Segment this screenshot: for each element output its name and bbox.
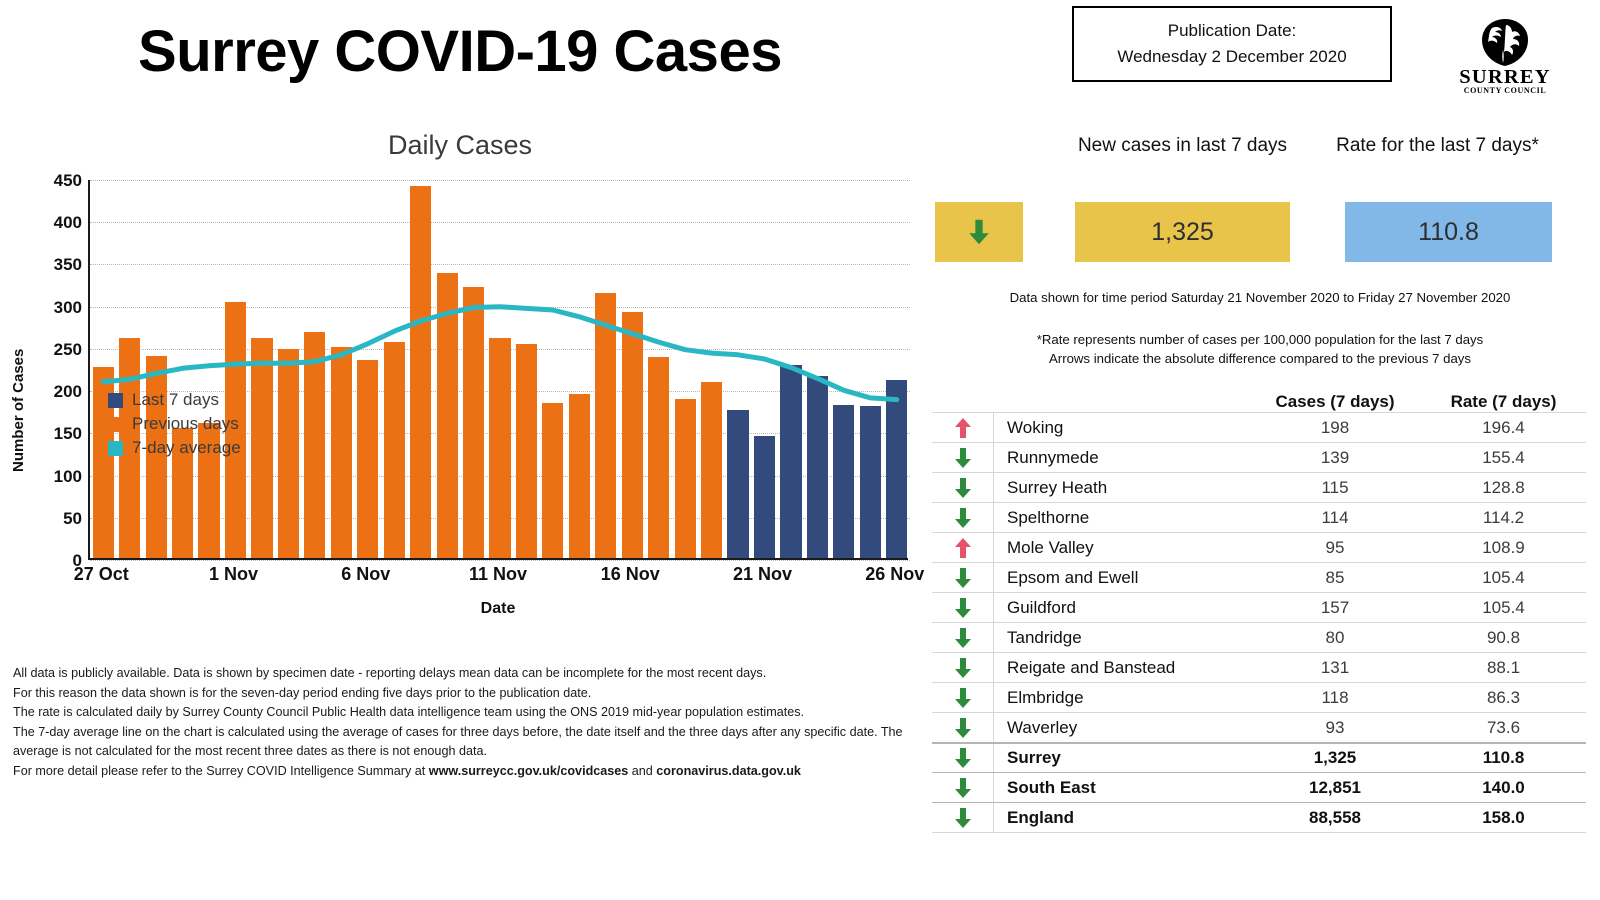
table-cell-area-name: England xyxy=(994,808,1249,828)
x-axis-tick-label: 16 Nov xyxy=(601,564,660,585)
down-arrow-icon xyxy=(954,627,972,649)
table-row: Epsom and Ewell85105.4 xyxy=(932,562,1586,592)
y-axis-tick-label: 250 xyxy=(54,340,82,360)
page-title: Surrey COVID-19 Cases xyxy=(0,18,920,85)
table-cell-cases: 85 xyxy=(1249,568,1421,588)
borough-rates-table: Cases (7 days) Rate (7 days) Woking19819… xyxy=(932,380,1586,833)
table-cell-area-name: Runnymede xyxy=(994,448,1249,468)
chart-plot-area: 050100150200250300350400450 xyxy=(88,180,908,560)
y-axis-tick-label: 350 xyxy=(54,255,82,275)
table-body: Woking198196.4Runnymede139155.4Surrey He… xyxy=(932,412,1586,832)
table-cell-cases: 139 xyxy=(1249,448,1421,468)
table-cell-cases: 1,325 xyxy=(1249,748,1421,768)
chart-legend: Last 7 daysPrevious days7-day average xyxy=(108,388,241,460)
seven-day-average-line xyxy=(90,180,910,560)
legend-item: Last 7 days xyxy=(108,388,241,412)
legend-label: 7-day average xyxy=(132,438,241,458)
down-arrow-icon xyxy=(954,807,972,829)
table-cell-rate: 88.1 xyxy=(1421,658,1586,678)
gridline: 0 xyxy=(90,560,910,561)
down-arrow-icon xyxy=(954,777,972,799)
table-cell-trend xyxy=(932,773,994,802)
rate-note-line-1: *Rate represents number of cases per 100… xyxy=(920,330,1600,349)
table-row: Surrey1,325110.8 xyxy=(932,742,1586,772)
table-cell-rate: 128.8 xyxy=(1421,478,1586,498)
kpi-rate-value: 110.8 xyxy=(1345,202,1552,262)
table-cell-area-name: Reigate and Banstead xyxy=(994,658,1249,678)
table-row: Guildford157105.4 xyxy=(932,592,1586,622)
left-panel: Surrey COVID-19 Cases Daily Cases Number… xyxy=(0,0,920,900)
footnote-line-5-pre: For more detail please refer to the Surr… xyxy=(13,764,429,778)
table-header-cases: Cases (7 days) xyxy=(1249,392,1421,412)
table-cell-cases: 157 xyxy=(1249,598,1421,618)
table-cell-trend xyxy=(932,503,994,532)
table-cell-trend xyxy=(932,413,994,442)
table-cell-trend xyxy=(932,653,994,682)
table-cell-area-name: Spelthorne xyxy=(994,508,1249,528)
chart-y-axis-label: Number of Cases xyxy=(10,349,27,472)
table-row: Woking198196.4 xyxy=(932,412,1586,442)
surrey-county-council-logo: SURREY COUNTY COUNCIL xyxy=(1450,18,1560,96)
footnote-line-2: For this reason the data shown is for th… xyxy=(13,684,908,704)
footnote-line-1: All data is publicly available. Data is … xyxy=(13,664,908,684)
table-cell-rate: 140.0 xyxy=(1421,778,1586,798)
down-arrow-icon xyxy=(954,717,972,739)
table-cell-cases: 115 xyxy=(1249,478,1421,498)
table-cell-cases: 198 xyxy=(1249,418,1421,438)
y-axis-tick-label: 400 xyxy=(54,213,82,233)
table-cell-area-name: Woking xyxy=(994,418,1249,438)
table-cell-rate: 155.4 xyxy=(1421,448,1586,468)
table-cell-rate: 86.3 xyxy=(1421,688,1586,708)
table-cell-trend xyxy=(932,803,994,832)
down-arrow-icon xyxy=(954,507,972,529)
table-cell-cases: 12,851 xyxy=(1249,778,1421,798)
table-cell-area-name: Tandridge xyxy=(994,628,1249,648)
y-axis-tick-label: 50 xyxy=(63,509,82,529)
table-cell-cases: 80 xyxy=(1249,628,1421,648)
table-cell-rate: 110.8 xyxy=(1421,748,1586,768)
legend-label: Last 7 days xyxy=(132,390,219,410)
table-cell-rate: 196.4 xyxy=(1421,418,1586,438)
rate-explanation-note: *Rate represents number of cases per 100… xyxy=(920,330,1600,368)
table-cell-area-name: Mole Valley xyxy=(994,538,1249,558)
y-axis-tick-label: 100 xyxy=(54,467,82,487)
table-cell-area-name: South East xyxy=(994,778,1249,798)
table-row: Reigate and Banstead13188.1 xyxy=(932,652,1586,682)
x-axis-tick-label: 11 Nov xyxy=(469,564,527,585)
table-header-row: Cases (7 days) Rate (7 days) xyxy=(932,380,1586,412)
chart-x-axis-label: Date xyxy=(88,600,908,618)
table-cell-rate: 108.9 xyxy=(1421,538,1586,558)
x-axis-tick-label: 1 Nov xyxy=(209,564,258,585)
up-arrow-icon xyxy=(954,537,972,559)
table-cell-rate: 90.8 xyxy=(1421,628,1586,648)
footnote-line-4: The 7-day average line on the chart is c… xyxy=(13,723,908,762)
kpi-cases-heading: New cases in last 7 days xyxy=(1070,131,1295,160)
legend-swatch xyxy=(108,393,123,408)
table-cell-cases: 95 xyxy=(1249,538,1421,558)
covidcases-link[interactable]: www.surreycc.gov.uk/covidcases xyxy=(429,764,629,778)
down-arrow-icon xyxy=(954,447,972,469)
table-cell-trend xyxy=(932,593,994,622)
rate-note-line-2: Arrows indicate the absolute difference … xyxy=(920,349,1600,368)
down-arrow-icon xyxy=(954,597,972,619)
table-cell-area-name: Elmbridge xyxy=(994,688,1249,708)
kpi-rate-heading: Rate for the last 7 days* xyxy=(1325,131,1550,160)
right-panel: Publication Date: Wednesday 2 December 2… xyxy=(920,0,1600,900)
infographic-page: Surrey COVID-19 Cases Daily Cases Number… xyxy=(0,0,1600,900)
down-arrow-icon xyxy=(954,687,972,709)
table-cell-cases: 131 xyxy=(1249,658,1421,678)
table-cell-area-name: Waverley xyxy=(994,718,1249,738)
table-cell-trend xyxy=(932,744,994,772)
y-axis-tick-label: 150 xyxy=(54,424,82,444)
table-row: Waverley9373.6 xyxy=(932,712,1586,742)
publication-date-value: Wednesday 2 December 2020 xyxy=(1117,47,1346,67)
footnote-line-3: The rate is calculated daily by Surrey C… xyxy=(13,703,908,723)
table-cell-trend xyxy=(932,473,994,502)
table-row: Elmbridge11886.3 xyxy=(932,682,1586,712)
coronavirus-data-link[interactable]: coronavirus.data.gov.uk xyxy=(656,764,801,778)
legend-item: Previous days xyxy=(108,412,241,436)
table-row: Mole Valley95108.9 xyxy=(932,532,1586,562)
table-cell-area-name: Guildford xyxy=(994,598,1249,618)
x-axis-tick-label: 27 Oct xyxy=(74,564,129,585)
legend-swatch xyxy=(108,441,123,456)
down-arrow-icon xyxy=(954,657,972,679)
daily-cases-chart: Number of Cases 050100150200250300350400… xyxy=(0,172,920,642)
table-cell-cases: 118 xyxy=(1249,688,1421,708)
chart-title: Daily Cases xyxy=(0,130,920,161)
table-cell-rate: 114.2 xyxy=(1421,508,1586,528)
table-row: Tandridge8090.8 xyxy=(932,622,1586,652)
y-axis-tick-label: 300 xyxy=(54,298,82,318)
table-row: Runnymede139155.4 xyxy=(932,442,1586,472)
x-axis-tick-label: 21 Nov xyxy=(733,564,792,585)
legend-item: 7-day average xyxy=(108,436,241,460)
table-bottom-border xyxy=(932,832,1586,833)
table-cell-area-name: Surrey xyxy=(994,748,1249,768)
table-cell-cases: 114 xyxy=(1249,508,1421,528)
down-arrow-icon xyxy=(968,217,990,247)
table-cell-rate: 105.4 xyxy=(1421,598,1586,618)
kpi-new-cases-value: 1,325 xyxy=(1075,202,1290,262)
publication-date-box: Publication Date: Wednesday 2 December 2… xyxy=(1072,6,1392,82)
table-row: South East12,851140.0 xyxy=(932,772,1586,802)
table-cell-trend xyxy=(932,623,994,652)
down-arrow-icon xyxy=(954,747,972,769)
table-cell-cases: 88,558 xyxy=(1249,808,1421,828)
legend-swatch xyxy=(108,417,123,432)
footnotes: All data is publicly available. Data is … xyxy=(13,664,908,781)
up-arrow-icon xyxy=(954,417,972,439)
legend-label: Previous days xyxy=(132,414,239,434)
table-cell-trend xyxy=(932,683,994,712)
y-axis-tick-label: 450 xyxy=(54,171,82,191)
table-cell-trend xyxy=(932,563,994,592)
table-header-rate: Rate (7 days) xyxy=(1421,392,1586,412)
down-arrow-icon xyxy=(954,567,972,589)
table-cell-area-name: Epsom and Ewell xyxy=(994,568,1249,588)
table-cell-rate: 158.0 xyxy=(1421,808,1586,828)
x-axis-tick-label: 6 Nov xyxy=(341,564,390,585)
oak-leaf-icon xyxy=(1476,18,1534,68)
footnote-line-5-mid: and xyxy=(628,764,656,778)
kpi-trend-arrow-box xyxy=(935,202,1023,262)
table-cell-area-name: Surrey Heath xyxy=(994,478,1249,498)
table-cell-rate: 73.6 xyxy=(1421,718,1586,738)
table-row: Spelthorne114114.2 xyxy=(932,502,1586,532)
data-period-note: Data shown for time period Saturday 21 N… xyxy=(920,288,1600,307)
x-axis-tick-label: 26 Nov xyxy=(865,564,924,585)
down-arrow-icon xyxy=(954,477,972,499)
table-cell-trend xyxy=(932,713,994,742)
table-cell-trend xyxy=(932,533,994,562)
table-cell-trend xyxy=(932,443,994,472)
table-row: Surrey Heath115128.8 xyxy=(932,472,1586,502)
publication-date-label: Publication Date: xyxy=(1168,21,1297,41)
table-cell-rate: 105.4 xyxy=(1421,568,1586,588)
table-cell-cases: 93 xyxy=(1249,718,1421,738)
y-axis-tick-label: 200 xyxy=(54,382,82,402)
footnote-line-5: For more detail please refer to the Surr… xyxy=(13,762,908,782)
logo-subtitle: COUNTY COUNCIL xyxy=(1450,86,1560,95)
table-row: England88,558158.0 xyxy=(932,802,1586,832)
